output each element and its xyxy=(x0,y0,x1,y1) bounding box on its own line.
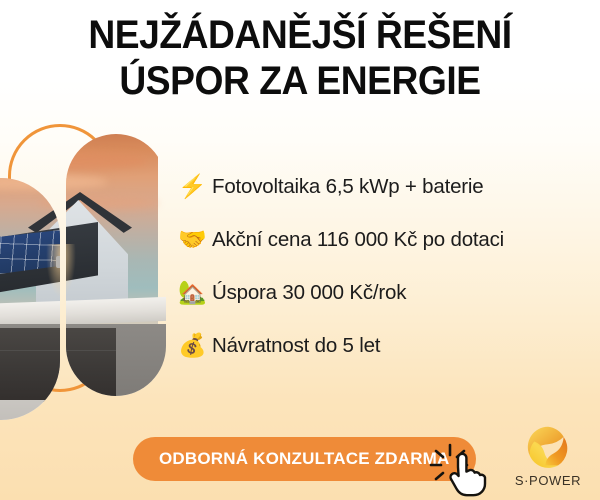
house-photo-pill-left xyxy=(0,178,60,420)
list-item-label: Návratnost do 5 let xyxy=(212,334,380,358)
money-bag-icon: 💰 xyxy=(178,334,212,357)
solar-ad-banner: NEJŽÁDANĚJŠÍ ŘEŠENÍ ÚSPOR ZA ENERGIE xyxy=(0,0,600,500)
house-with-garden-icon: 🏡 xyxy=(178,281,212,304)
list-item-label: Fotovoltaika 6,5 kWp + baterie xyxy=(212,175,483,199)
handshake-icon: 🤝 xyxy=(178,228,212,251)
list-item: 🤝 Akční cena 116 000 Kč po dotaci xyxy=(178,213,578,266)
hero-artwork xyxy=(0,0,200,430)
cta-area: ODBORNÁ KONZULTACE ZDARMA xyxy=(133,437,476,481)
brand-logo: S·POWER xyxy=(512,424,584,488)
list-item-label: Úspora 30 000 Kč/rok xyxy=(212,281,406,305)
list-item: 🏡 Úspora 30 000 Kč/rok xyxy=(178,266,578,319)
brand-wordmark: S·POWER xyxy=(512,473,584,488)
list-item: ⚡ Fotovoltaika 6,5 kWp + baterie xyxy=(178,160,578,213)
lightning-bolt-icon: ⚡ xyxy=(178,175,212,198)
list-item: 💰 Návratnost do 5 let xyxy=(178,319,578,372)
benefits-list: ⚡ Fotovoltaika 6,5 kWp + baterie 🤝 Akční… xyxy=(178,160,578,372)
house-photo-pill-right xyxy=(66,134,166,396)
list-item-label: Akční cena 116 000 Kč po dotaci xyxy=(212,228,504,252)
s-power-ring-logo-icon xyxy=(525,424,571,470)
consultation-cta-button[interactable]: ODBORNÁ KONZULTACE ZDARMA xyxy=(133,437,476,481)
